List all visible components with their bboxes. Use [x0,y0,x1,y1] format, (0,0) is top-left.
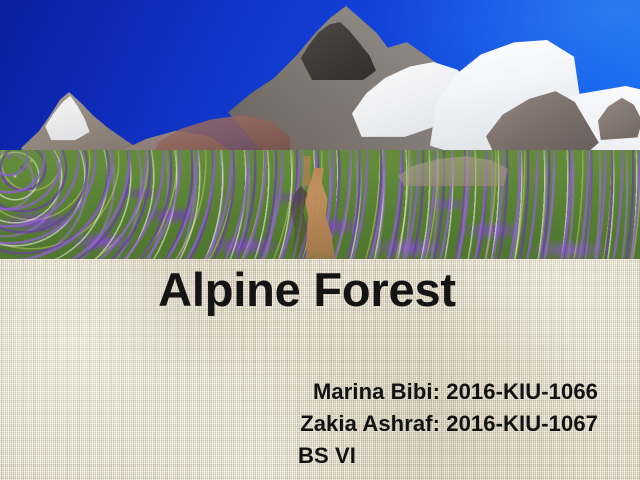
alpine-meadow-photo [0,0,640,259]
author-credits: Marina Bibi: 2016-KIU-1066 Zakia Ashraf:… [178,376,598,472]
title-slide: Alpine Forest Marina Bibi: 2016-KIU-1066… [0,0,640,480]
photo-bottom-edge [0,249,640,259]
credit-line-3: BS VI [178,440,598,472]
credit-line-2: Zakia Ashraf: 2016-KIU-1067 [178,408,598,440]
slide-title: Alpine Forest [0,266,640,314]
credit-line-1: Marina Bibi: 2016-KIU-1066 [178,376,598,408]
